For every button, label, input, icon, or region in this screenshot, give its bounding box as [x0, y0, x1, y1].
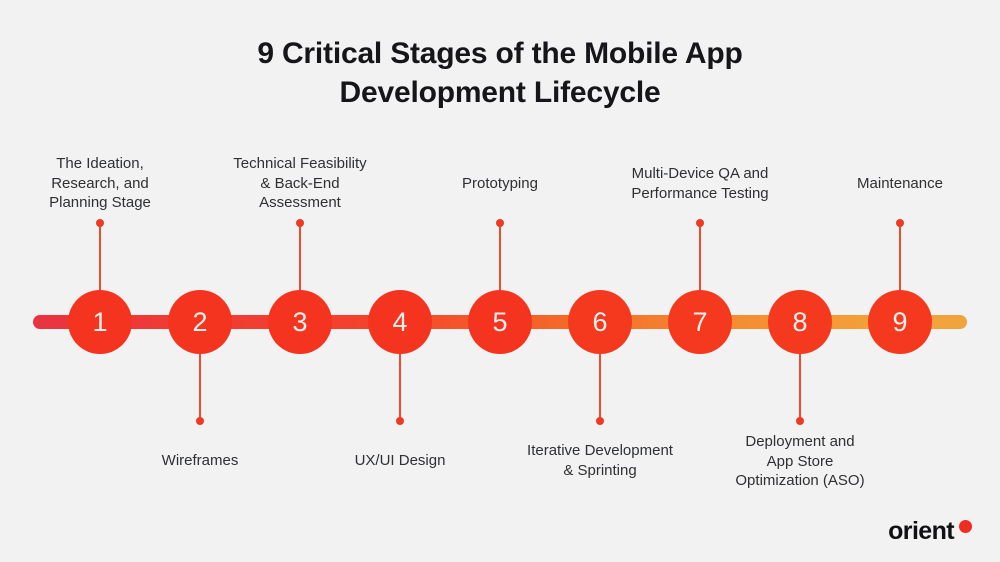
stage-node-6[interactable]: 6: [568, 290, 632, 354]
stage-label-2: Wireframes: [100, 451, 300, 471]
stage-connector-5: [499, 223, 501, 290]
stage-connector-2: [199, 354, 201, 421]
page-title: 9 Critical Stages of the Mobile App Deve…: [0, 34, 1000, 112]
stage-connector-dot-icon: [396, 417, 404, 425]
brand-logo: orient: [888, 519, 972, 544]
stage-connector-7: [699, 223, 701, 290]
infographic-canvas: 9 Critical Stages of the Mobile App Deve…: [0, 0, 1000, 562]
stage-label-3: Technical Feasibility & Back-End Assessm…: [200, 154, 400, 213]
stage-node-2[interactable]: 2: [168, 290, 232, 354]
stage-connector-dot-icon: [696, 219, 704, 227]
stage-label-9: Maintenance: [800, 174, 1000, 194]
logo-wordmark: orient: [888, 519, 954, 544]
stage-node-5[interactable]: 5: [468, 290, 532, 354]
stage-connector-8: [799, 354, 801, 421]
stage-connector-1: [99, 223, 101, 290]
stage-label-6: Iterative Development & Sprinting: [500, 441, 700, 480]
stage-node-9[interactable]: 9: [868, 290, 932, 354]
stage-connector-dot-icon: [296, 219, 304, 227]
stage-node-1[interactable]: 1: [68, 290, 132, 354]
stage-connector-dot-icon: [96, 219, 104, 227]
stage-node-4[interactable]: 4: [368, 290, 432, 354]
stage-node-8[interactable]: 8: [768, 290, 832, 354]
stage-connector-dot-icon: [796, 417, 804, 425]
stage-label-1: The Ideation, Research, and Planning Sta…: [0, 154, 200, 213]
stage-connector-9: [899, 223, 901, 290]
stage-node-3[interactable]: 3: [268, 290, 332, 354]
stage-connector-dot-icon: [496, 219, 504, 227]
stage-connector-dot-icon: [596, 417, 604, 425]
stage-node-7[interactable]: 7: [668, 290, 732, 354]
stage-label-4: UX/UI Design: [300, 451, 500, 471]
orient-logo-dot-icon: [959, 520, 972, 533]
stage-connector-dot-icon: [896, 219, 904, 227]
stage-label-5: Prototyping: [400, 174, 600, 194]
stage-connector-dot-icon: [196, 417, 204, 425]
stage-label-7: Multi-Device QA and Performance Testing: [600, 164, 800, 203]
stage-connector-3: [299, 223, 301, 290]
stage-connector-6: [599, 354, 601, 421]
stage-label-8: Deployment and App Store Optimization (A…: [700, 432, 900, 491]
stage-connector-4: [399, 354, 401, 421]
